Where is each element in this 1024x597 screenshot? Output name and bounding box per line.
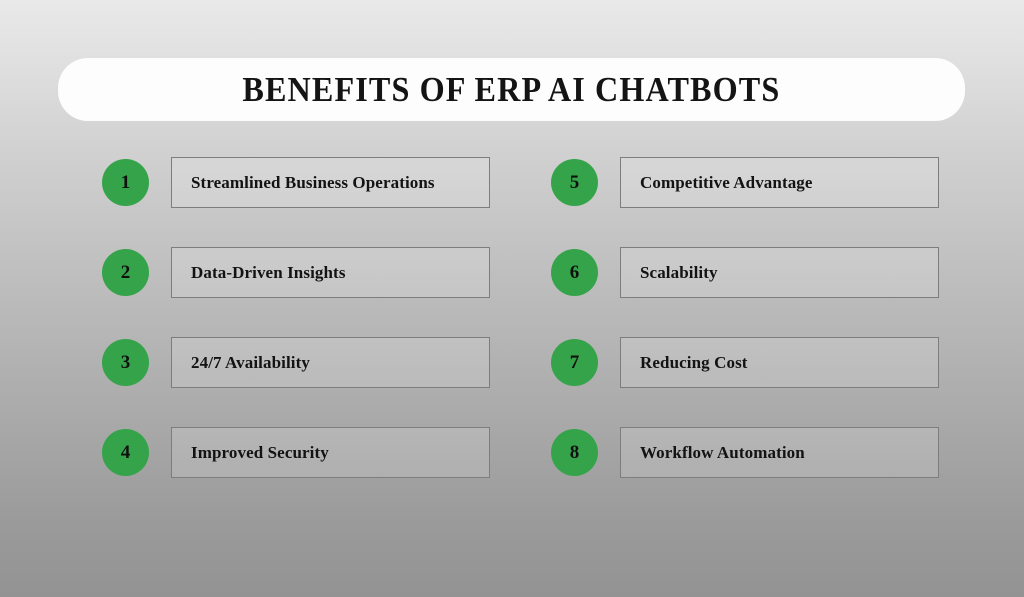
- benefits-column-left: 1 Streamlined Business Operations 2 Data…: [102, 157, 492, 482]
- benefit-item[interactable]: 2 Data-Driven Insights: [102, 247, 492, 298]
- benefit-number-badge: 4: [102, 429, 149, 476]
- benefit-number-badge: 7: [551, 339, 598, 386]
- benefit-number-badge: 8: [551, 429, 598, 476]
- benefit-number: 2: [121, 263, 131, 282]
- page-title: BENEFITS OF ERP AI CHATBOTS: [243, 72, 781, 107]
- benefit-number: 5: [570, 173, 580, 192]
- benefit-number: 8: [570, 443, 580, 462]
- benefit-number: 1: [121, 173, 131, 192]
- benefit-number-badge: 5: [551, 159, 598, 206]
- benefit-label: 24/7 Availability: [172, 354, 310, 371]
- benefit-number-badge: 1: [102, 159, 149, 206]
- benefit-item[interactable]: 3 24/7 Availability: [102, 337, 492, 388]
- benefit-label-box[interactable]: Workflow Automation: [620, 427, 939, 478]
- benefit-number-badge: 2: [102, 249, 149, 296]
- benefits-grid: 1 Streamlined Business Operations 2 Data…: [0, 157, 1024, 482]
- benefit-label-box[interactable]: Improved Security: [171, 427, 490, 478]
- benefit-label-box[interactable]: Reducing Cost: [620, 337, 939, 388]
- benefit-number: 7: [570, 353, 580, 372]
- benefit-label: Streamlined Business Operations: [172, 174, 435, 191]
- benefit-item[interactable]: 5 Competitive Advantage: [551, 157, 941, 208]
- benefit-label-box[interactable]: Competitive Advantage: [620, 157, 939, 208]
- benefit-item[interactable]: 7 Reducing Cost: [551, 337, 941, 388]
- benefit-number: 3: [121, 353, 131, 372]
- benefit-label: Scalability: [621, 264, 718, 281]
- benefit-item[interactable]: 1 Streamlined Business Operations: [102, 157, 492, 208]
- benefit-item[interactable]: 8 Workflow Automation: [551, 427, 941, 478]
- benefit-label-box[interactable]: Streamlined Business Operations: [171, 157, 490, 208]
- benefit-label: Reducing Cost: [621, 354, 748, 371]
- benefit-label: Improved Security: [172, 444, 329, 461]
- title-card: BENEFITS OF ERP AI CHATBOTS: [58, 58, 965, 121]
- benefit-number: 4: [121, 443, 131, 462]
- benefit-item[interactable]: 4 Improved Security: [102, 427, 492, 478]
- benefit-label: Competitive Advantage: [621, 174, 813, 191]
- infographic-poster: BENEFITS OF ERP AI CHATBOTS 1 Streamline…: [0, 0, 1024, 597]
- benefit-label-box[interactable]: Scalability: [620, 247, 939, 298]
- benefit-label: Data-Driven Insights: [172, 264, 346, 281]
- benefit-label-box[interactable]: Data-Driven Insights: [171, 247, 490, 298]
- benefit-number: 6: [570, 263, 580, 282]
- benefit-label-box[interactable]: 24/7 Availability: [171, 337, 490, 388]
- benefit-item[interactable]: 6 Scalability: [551, 247, 941, 298]
- benefit-number-badge: 6: [551, 249, 598, 296]
- benefits-column-right: 5 Competitive Advantage 6 Scalability 7: [551, 157, 941, 482]
- benefit-number-badge: 3: [102, 339, 149, 386]
- benefit-label: Workflow Automation: [621, 444, 805, 461]
